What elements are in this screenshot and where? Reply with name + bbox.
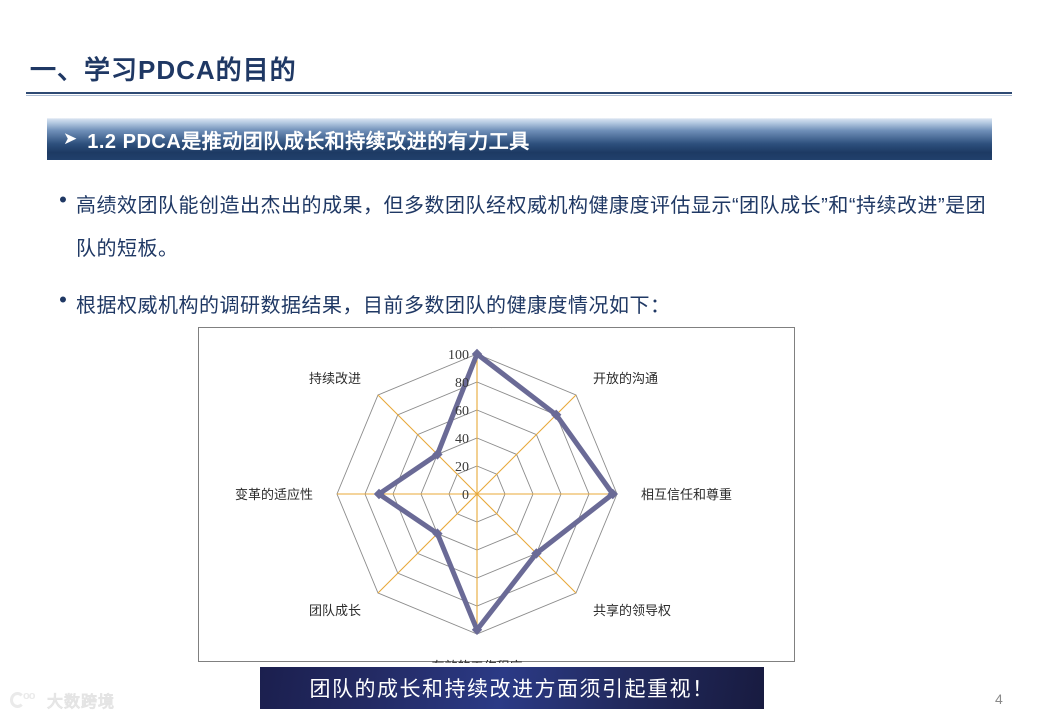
svg-text:40: 40 bbox=[455, 432, 469, 447]
chevron-right-bullet-icon: ➤ bbox=[63, 130, 77, 147]
list-item: • 根据权威机构的调研数据结果，目前多数团队的健康度情况如下： bbox=[50, 285, 1000, 328]
radar-series-markers bbox=[374, 349, 618, 635]
svg-text:相互信任和尊重: 相互信任和尊重 bbox=[641, 487, 732, 502]
summary-banner: 团队的成长和持续改进方面须引起重视！ bbox=[260, 667, 764, 709]
page-title: 一、学习PDCA的目的 bbox=[30, 50, 297, 87]
svg-text:团队成长: 团队成长 bbox=[309, 603, 361, 618]
slide-canvas: 一、学习PDCA的目的 ➤ 1.2 PDCA是推动团队成长和持续改进的有力工具 … bbox=[0, 0, 1040, 720]
radar-chart: 020406080100 对目标的关注开放的沟通相互信任和尊重共享的领导权有效的… bbox=[198, 327, 795, 662]
radar-axis-labels: 对目标的关注开放的沟通相互信任和尊重共享的领导权有效的工作程序团队成长变革的适应… bbox=[235, 328, 732, 663]
svg-text:60: 60 bbox=[455, 404, 469, 419]
radar-chart-svg: 020406080100 对目标的关注开放的沟通相互信任和尊重共享的领导权有效的… bbox=[199, 328, 796, 663]
svg-text:0: 0 bbox=[462, 488, 469, 503]
svg-text:开放的沟通: 开放的沟通 bbox=[593, 371, 658, 386]
summary-banner-label: 团队的成长和持续改进方面须引起重视！ bbox=[310, 673, 715, 703]
bullet-text: 根据权威机构的调研数据结果，目前多数团队的健康度情况如下： bbox=[76, 285, 1000, 328]
page-number: 4 bbox=[995, 691, 1003, 707]
svg-text:共享的领导权: 共享的领导权 bbox=[593, 603, 671, 618]
svg-text:80: 80 bbox=[455, 376, 469, 391]
bullet-marker-icon: • bbox=[50, 185, 76, 215]
heading-divider bbox=[26, 92, 1012, 94]
svg-text:100: 100 bbox=[448, 348, 469, 363]
bullet-text: 高绩效团队能创造出杰出的成果，但多数团队经权威机构健康度评估显示“团队成长”和“… bbox=[76, 185, 1000, 271]
section-banner-label: 1.2 PDCA是推动团队成长和持续改进的有力工具 bbox=[87, 125, 530, 154]
svg-text:对目标的关注: 对目标的关注 bbox=[438, 328, 516, 330]
watermark-badge-text: oo bbox=[23, 690, 34, 702]
section-banner: ➤ 1.2 PDCA是推动团队成长和持续改进的有力工具 bbox=[47, 118, 992, 160]
heading-divider-secondary bbox=[26, 95, 1012, 96]
brand-logo-icon: oo bbox=[10, 690, 40, 710]
watermark-label: 大数跨境 bbox=[47, 688, 115, 712]
svg-text:变革的适应性: 变革的适应性 bbox=[235, 487, 313, 502]
svg-text:持续改进: 持续改进 bbox=[309, 371, 361, 386]
watermark: oo 大数跨境 bbox=[10, 688, 115, 712]
svg-text:20: 20 bbox=[455, 460, 469, 475]
svg-text:有效的工作程序: 有效的工作程序 bbox=[431, 659, 522, 663]
bullet-list: • 高绩效团队能创造出杰出的成果，但多数团队经权威机构健康度评估显示“团队成长”… bbox=[50, 185, 1000, 342]
list-item: • 高绩效团队能创造出杰出的成果，但多数团队经权威机构健康度评估显示“团队成长”… bbox=[50, 185, 1000, 271]
bullet-marker-icon: • bbox=[50, 285, 76, 315]
